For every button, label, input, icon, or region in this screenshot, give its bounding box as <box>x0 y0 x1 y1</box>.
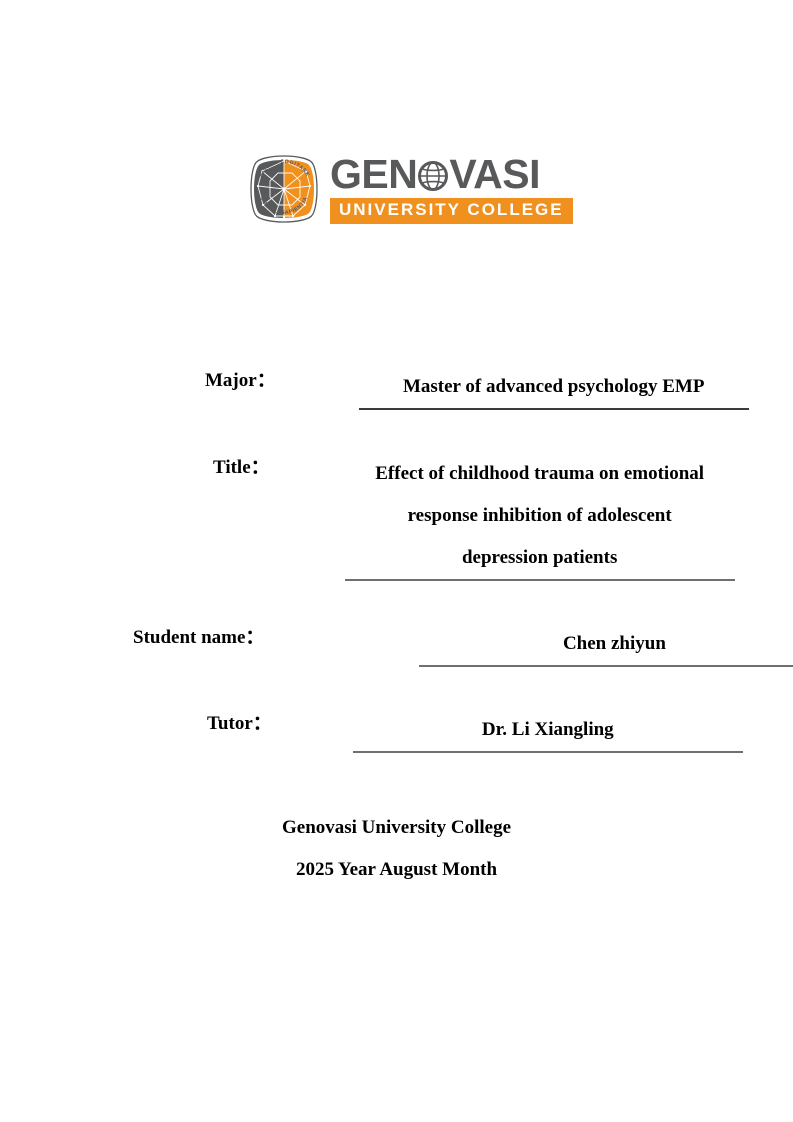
institution-logo: ALITER COGITARE CONSILI SAPIENTIA GEN VA… <box>248 148 548 230</box>
field-row-student-name: Student name： Chen zhiyun <box>133 623 793 667</box>
globe-icon <box>418 161 448 191</box>
footer-block: Genovasi University College 2025 Year Au… <box>0 807 793 891</box>
field-values-major: Master of advanced psychology EMP <box>359 366 749 410</box>
footer-institution: Genovasi University College <box>0 807 793 849</box>
field-label-title: Title： <box>213 453 270 483</box>
logo-subtitle-bar: UNIVERSITY COLLEGE <box>330 198 573 224</box>
field-rule-title <box>345 579 735 581</box>
field-row-title: Title： Effect of childhood trauma on emo… <box>213 453 735 581</box>
field-value-tutor-line-1: Dr. Li Xiangling <box>353 709 743 751</box>
logo-wordmark: GEN VASI UNIVERSITY COLLEGE <box>330 154 573 224</box>
field-value-major-line-1: Master of advanced psychology EMP <box>359 366 749 408</box>
field-values-tutor: Dr. Li Xiangling <box>353 709 743 753</box>
logo-emblem-icon: ALITER COGITARE CONSILI SAPIENTIA <box>248 153 320 225</box>
field-row-tutor: Tutor： Dr. Li Xiangling <box>207 709 743 753</box>
logo-subtitle-label: UNIVERSITY COLLEGE <box>339 200 564 219</box>
field-label-major: Major： <box>205 366 276 396</box>
field-value-title-line-1: Effect of childhood trauma on emotional <box>345 453 735 495</box>
field-rule-major <box>359 408 749 410</box>
field-value-title-line-3: depression patients <box>345 537 735 579</box>
field-value-student-name-line-1: Chen zhiyun <box>419 623 793 665</box>
field-rule-tutor <box>353 751 743 753</box>
field-row-major: Major： Master of advanced psychology EMP <box>205 366 749 410</box>
field-label-tutor: Tutor： <box>207 709 272 739</box>
logo-wordmark-prefix: GEN <box>330 154 417 195</box>
logo-wordmark-suffix: VASI <box>449 154 540 195</box>
field-values-title: Effect of childhood trauma on emotional … <box>345 453 735 581</box>
logo-wordmark-top: GEN VASI <box>330 154 540 195</box>
footer-date: 2025 Year August Month <box>0 849 793 891</box>
field-label-student-name: Student name： <box>133 623 264 653</box>
field-values-student-name: Chen zhiyun <box>419 623 793 667</box>
field-rule-student-name <box>419 665 793 667</box>
field-value-title-line-2: response inhibition of adolescent <box>345 495 735 537</box>
